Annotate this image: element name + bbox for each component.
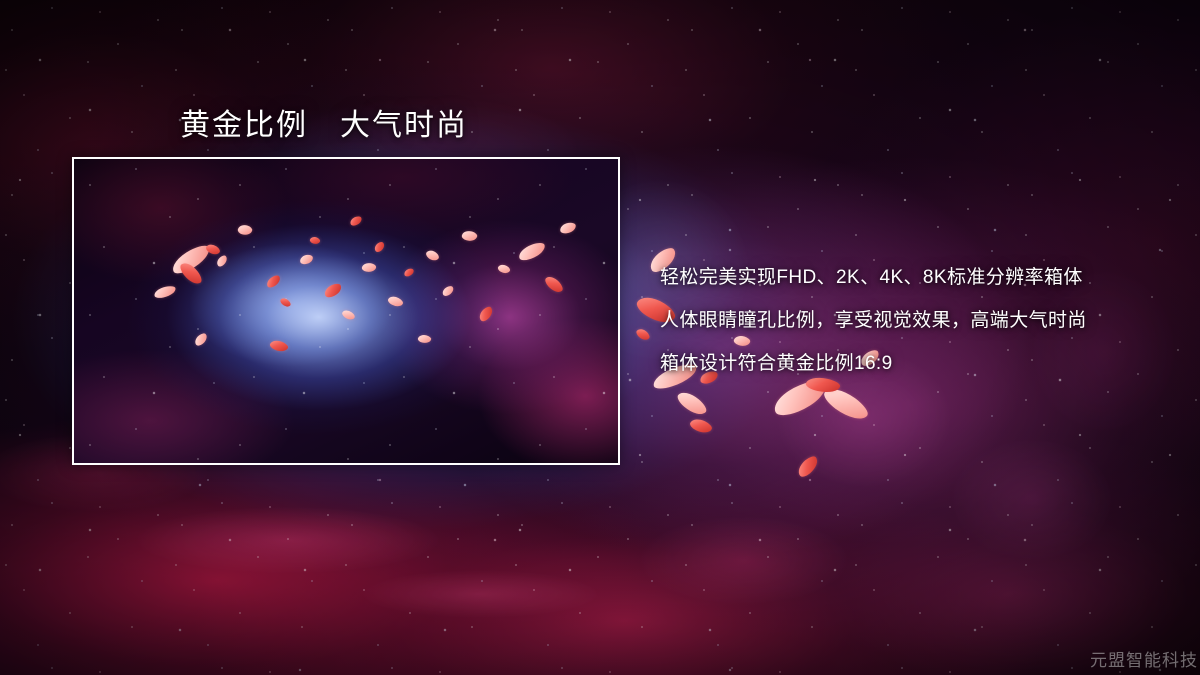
body-text-block: 轻松完美实现FHD、2K、4K、8K标准分辨率箱体 人体眼睛瞳孔比例，享受视觉效… xyxy=(660,256,1087,385)
petal-shape xyxy=(795,454,822,479)
body-line-2: 人体眼睛瞳孔比例，享受视觉效果，高端大气时尚 xyxy=(660,299,1087,342)
petal-shape xyxy=(821,382,872,426)
body-line-1: 轻松完美实现FHD、2K、4K、8K标准分辨率箱体 xyxy=(660,256,1087,299)
slide-canvas: 黄金比例 大气时尚 轻松完美实现FHD、2K、4K、8K标准分辨率箱体 人体眼睛… xyxy=(0,0,1200,675)
petal-shape xyxy=(635,326,651,342)
photo-starfield-icon xyxy=(74,159,618,463)
watermark-label: 元盟智能科技 xyxy=(1090,646,1198,671)
page-title: 黄金比例 大气时尚 xyxy=(180,100,468,144)
framed-photo xyxy=(72,157,620,465)
petal-shape xyxy=(675,387,709,419)
body-line-3: 箱体设计符合黄金比例16:9 xyxy=(660,342,1087,385)
petal-shape xyxy=(688,416,713,436)
